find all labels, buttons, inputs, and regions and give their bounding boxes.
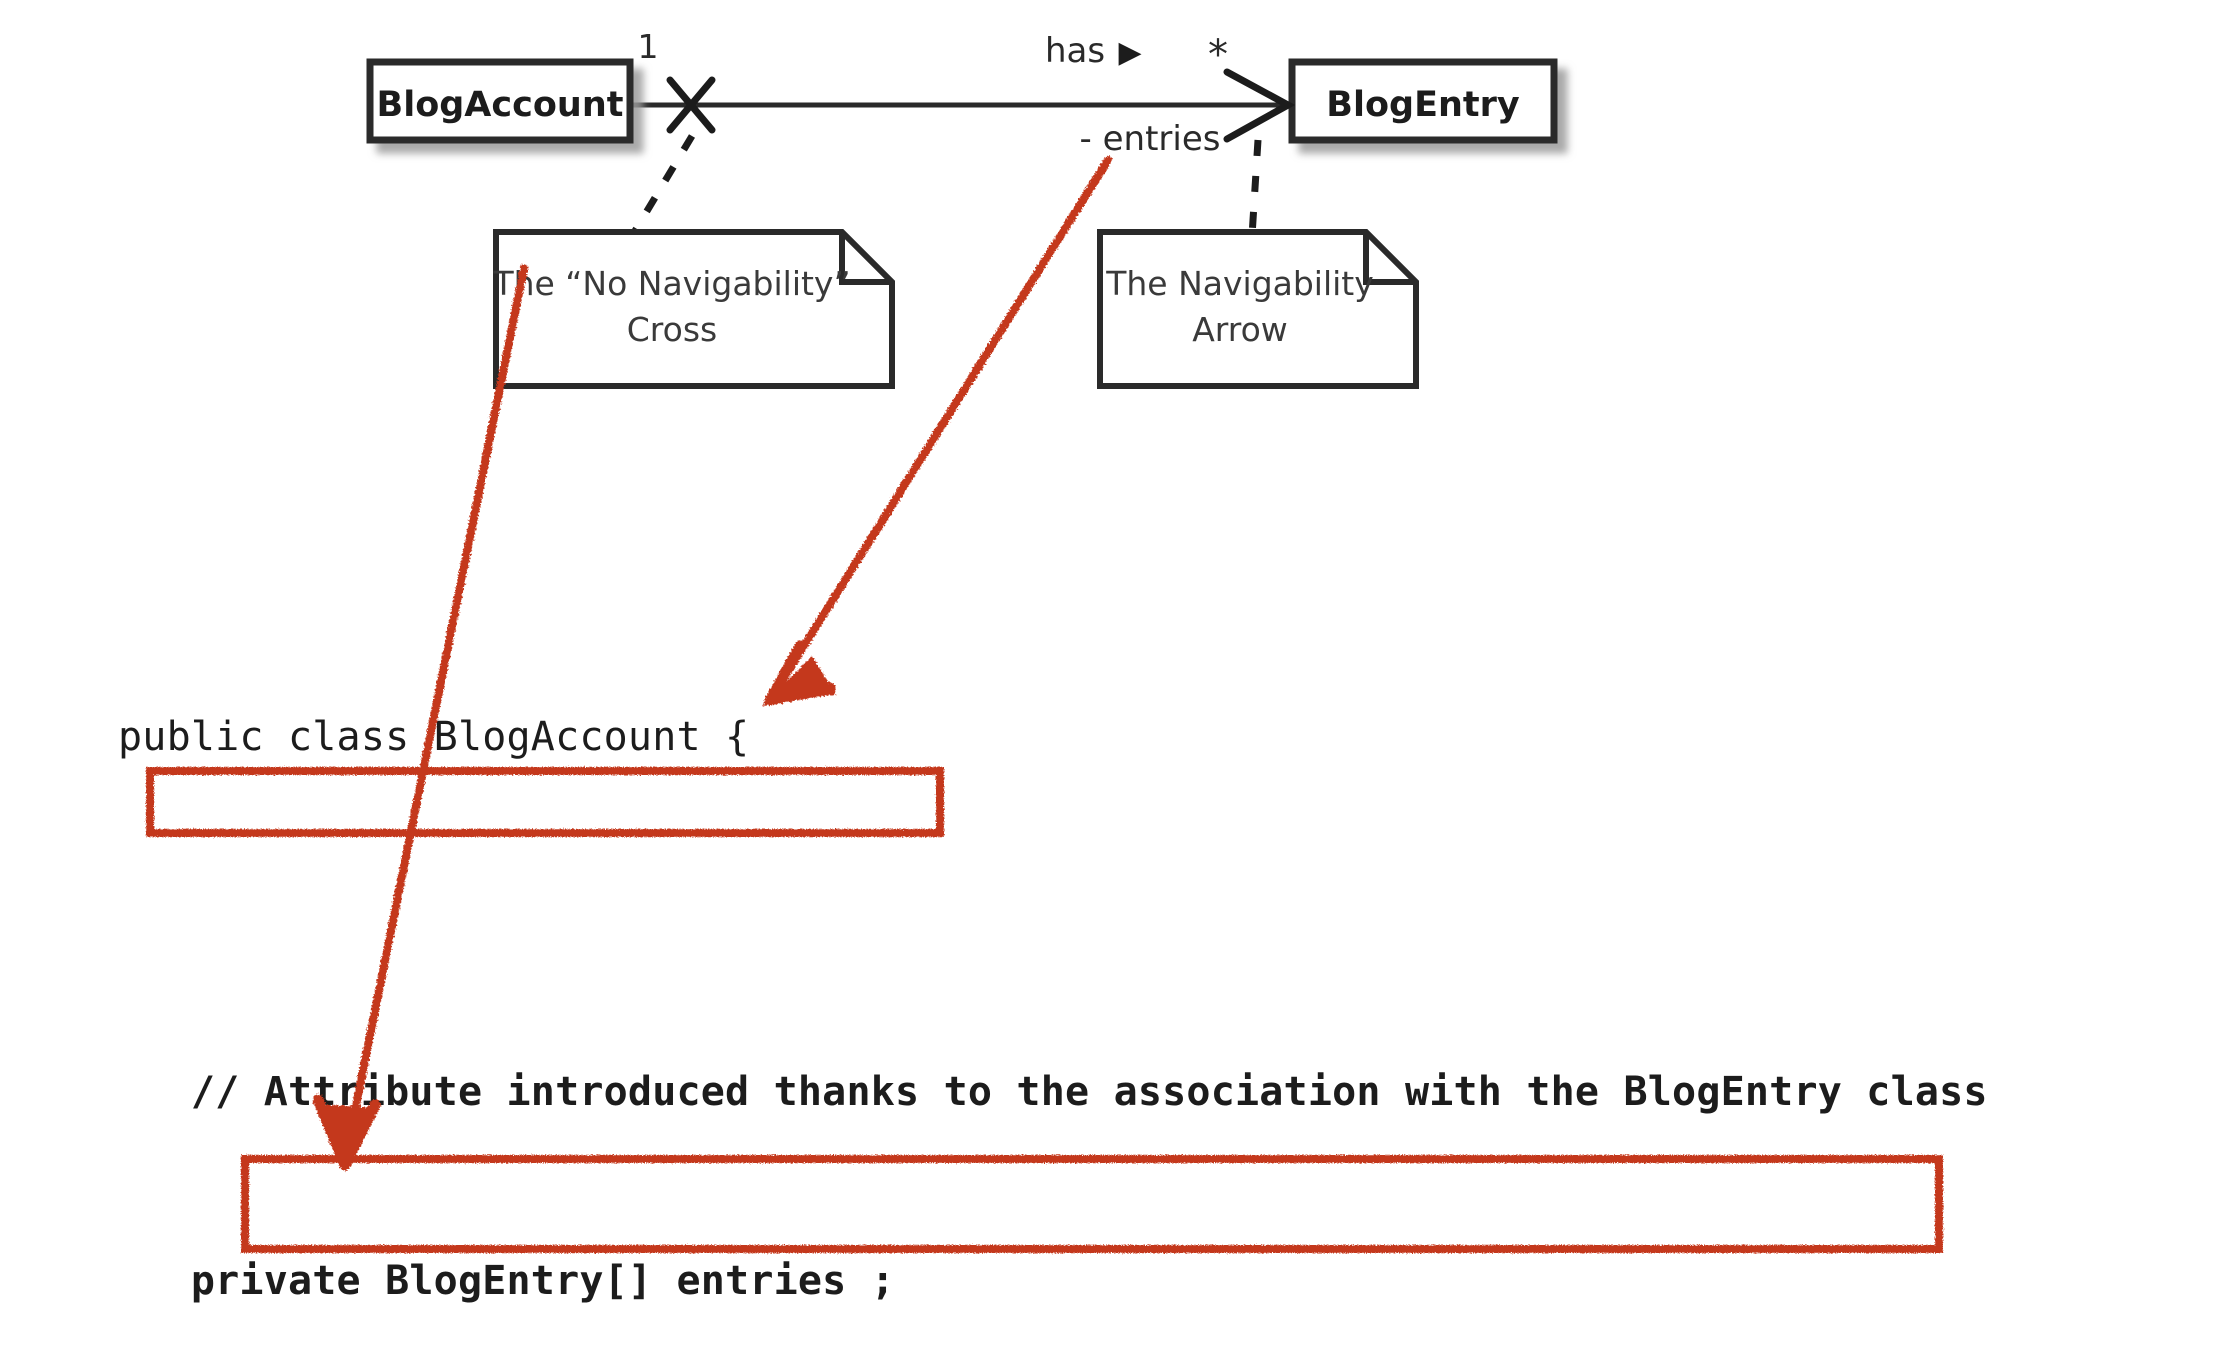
association-direction-icon: ▶ — [1118, 35, 1141, 70]
note-arrow-line-2: Arrow — [1192, 310, 1288, 349]
code-line: // Attribute introduced thanks to the as… — [118, 1061, 2168, 1124]
multiplicity-target: * — [1208, 32, 1228, 78]
note-navigability-arrow[interactable] — [1100, 232, 1416, 386]
figure-page: BlogAccount BlogEntry 1 * has ▶ - entrie… — [0, 0, 2214, 1348]
code-line: public class BlogAccount { — [118, 706, 2168, 769]
note-no-navigability-cross[interactable] — [496, 232, 892, 386]
multiplicity-source: 1 — [638, 27, 659, 66]
class-name-blogaccount: BlogAccount — [377, 85, 624, 125]
note-cross-line-1: The “No Navigability” — [492, 264, 850, 303]
note-connector-arrow — [1252, 140, 1258, 236]
note-connector-cross — [632, 136, 692, 236]
code-listing: public class BlogAccount { // Attribute … — [118, 580, 2168, 1348]
uml-class-diagram: BlogAccount BlogEntry 1 * has ▶ - entrie… — [0, 0, 2214, 420]
note-arrow-line-1: The Navigability — [1105, 264, 1374, 303]
code-line — [118, 895, 2168, 935]
code-line: private BlogEntry[] entries ; — [118, 1250, 2168, 1313]
class-name-blogentry: BlogEntry — [1326, 85, 1520, 125]
association-role-label: - entries — [1080, 119, 1221, 159]
association-label: has — [1045, 31, 1105, 71]
note-cross-line-2: Cross — [627, 310, 717, 349]
